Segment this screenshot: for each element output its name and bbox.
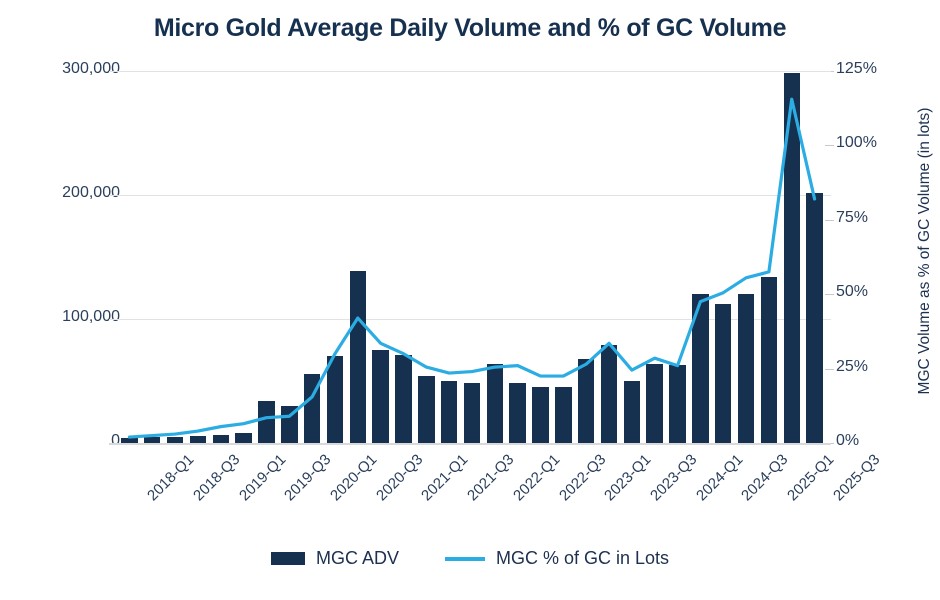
x-axis-tick-label: 2022-Q3 [556,451,609,504]
line-path [129,99,814,437]
plot-area [118,71,826,443]
legend-bar-swatch-icon [271,552,305,565]
x-axis-tick-label: 2019-Q3 [282,451,335,504]
chart-legend: MGC ADV MGC % of GC in Lots [0,548,940,569]
y-axis-right-tick-mark [825,369,834,370]
y-axis-left-tick-label: 300,000 [62,60,120,78]
y-axis-right-tick-label: 25% [836,358,868,376]
legend-label-mgc-pct-of-gc: MGC % of GC in Lots [496,548,669,569]
y-axis-right-tick-label: 50% [836,283,868,301]
y-axis-right-tick-label: 75% [836,209,868,227]
x-axis-tick-label: 2019-Q1 [236,451,289,504]
x-axis-tick-label: 2023-Q3 [647,451,700,504]
x-axis-tick-label: 2018-Q3 [190,451,243,504]
x-axis-tick-label: 2023-Q1 [601,451,654,504]
chart-title: Micro Gold Average Daily Volume and % of… [0,14,940,43]
x-axis-tick-label: 2022-Q1 [510,451,563,504]
x-axis-tick-label: 2021-Q1 [419,451,472,504]
x-axis-tick-label: 2025-Q1 [784,451,837,504]
x-axis-tick-label: 2024-Q1 [693,451,746,504]
x-axis-tick-label: 2024-Q3 [738,451,791,504]
y-axis-right-tick-label: 100% [836,134,877,152]
y-axis-right-tick-label: 0% [836,432,859,450]
legend-item-mgc-pct-of-gc: MGC % of GC in Lots [445,548,669,569]
legend-line-swatch-icon [445,557,485,561]
y-axis-right-tick-mark [825,294,834,295]
legend-label-mgc-adv: MGC ADV [316,548,399,569]
x-axis-tick-label: 2018-Q1 [145,451,198,504]
y-axis-left-tick-label: 100,000 [62,308,120,326]
y-axis-right-title: MGC Volume as % of GC Volume (in lots) [912,60,938,450]
chart-container: Micro Gold Average Daily Volume and % of… [0,0,940,600]
x-axis-tick-label: 2020-Q1 [327,451,380,504]
x-axis-tick-label: 2021-Q3 [464,451,517,504]
y-axis-left-tick-label: 200,000 [62,184,120,202]
y-axis-right-title-text: MGC Volume as % of GC Volume (in lots) [916,61,934,441]
legend-item-mgc-adv: MGC ADV [271,548,399,569]
y-axis-right-ticks: 0%25%50%75%100%125% [836,0,906,600]
y-axis-right-tick-mark [825,220,834,221]
y-axis-right-tick-label: 125% [836,60,877,78]
line-series-mgc-pct-of-gc [118,71,826,443]
y-axis-right-tick-mark [825,145,834,146]
x-axis-ticks: 2018-Q12018-Q32019-Q12019-Q32020-Q12020-… [118,443,826,533]
x-axis-tick-label: 2020-Q3 [373,451,426,504]
y-axis-left-ticks: 0100,000200,000300,000 [28,0,120,600]
